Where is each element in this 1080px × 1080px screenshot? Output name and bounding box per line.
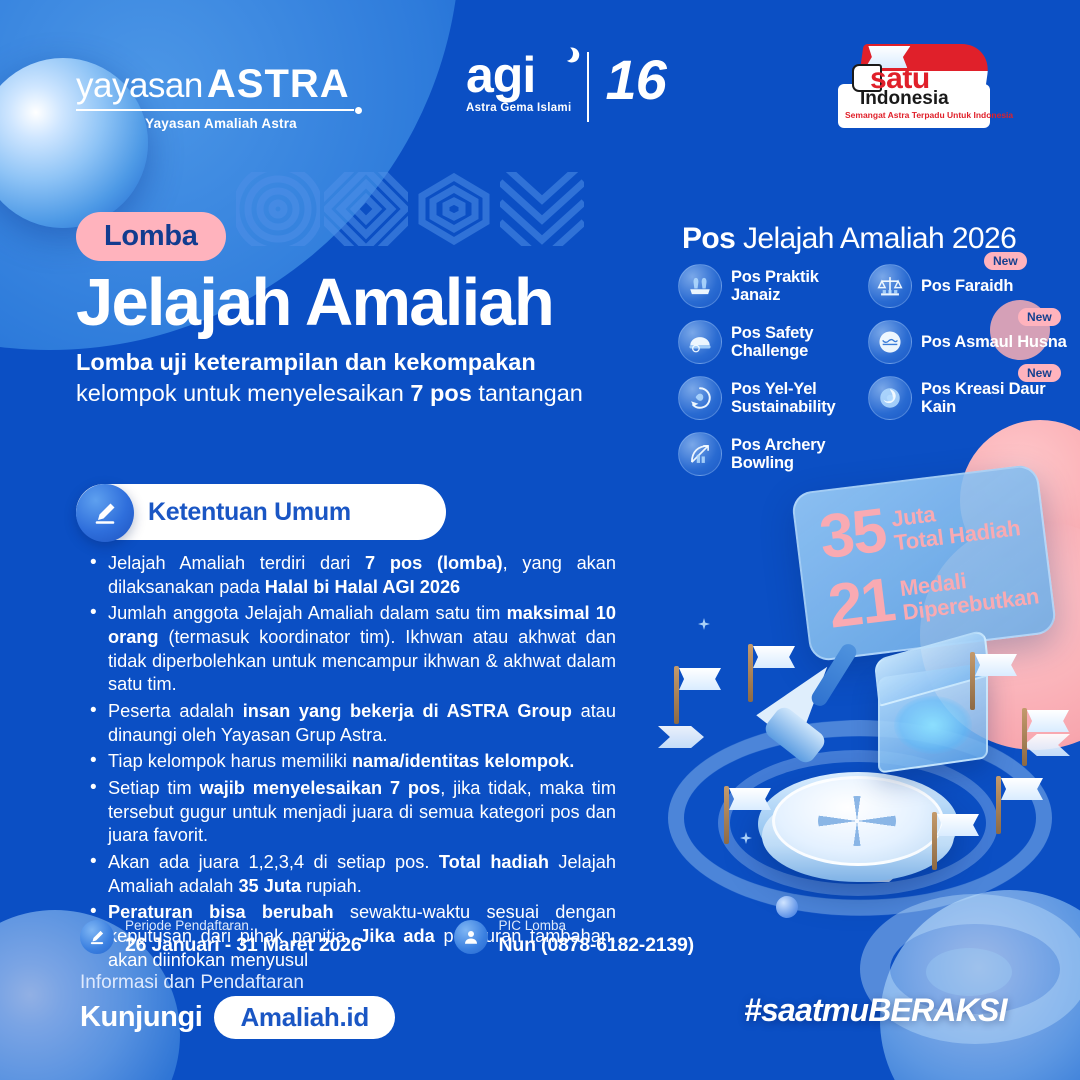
hero-subtitle-tail: tantangan — [472, 380, 583, 406]
arrow-band-left — [658, 726, 704, 748]
registration-period-item: Periode Pendaftaran 26 Januari - 31 Mare… — [80, 918, 362, 957]
hero-subtitle-bold-2: 7 pos — [410, 380, 471, 406]
pos-item: Pos FaraidhNew — [868, 264, 1078, 308]
pic-lomba-item: PIC Lomba Nun (0878-6182-2139) — [454, 918, 694, 957]
cta-lead-text: Informasi dan Pendaftaran — [80, 972, 395, 994]
ketentuan-title: Ketentuan Umum — [148, 498, 351, 527]
agi-edition-number: 16 — [605, 52, 665, 108]
astra-logo-rule — [76, 109, 354, 111]
pos-section-heading: Pos Jelajah Amaliah 2026 — [682, 222, 1016, 256]
rule-text: (termasuk koordinator tim). Ikhwan atau … — [108, 627, 616, 694]
agi-logo: agi Astra Gema Islami 16 — [466, 52, 666, 122]
info-row: Periode Pendaftaran 26 Januari - 31 Mare… — [80, 918, 694, 957]
janaiz-icon — [678, 264, 722, 308]
scales-icon — [868, 264, 912, 308]
astra-logo-subtitle: Yayasan Amaliah Astra — [76, 116, 366, 131]
registration-period-label: Periode Pendaftaran — [125, 918, 362, 934]
flag-4 — [1022, 708, 1027, 766]
rule-emphasis: 7 pos (lomba) — [365, 553, 503, 573]
rule-text: Setiap tim — [108, 778, 199, 798]
hero-subtitle-normal: kelompok untuk menyelesaikan — [76, 380, 410, 406]
satu-logo-word2: Indonesia — [860, 88, 949, 110]
flag-2 — [748, 644, 753, 702]
flag-1 — [674, 666, 679, 724]
3d-illustration — [640, 600, 1080, 1030]
pos-item-label: Pos Faraidh — [921, 277, 1013, 295]
rules-list: Jelajah Amaliah terdiri dari 7 pos (lomb… — [88, 552, 616, 975]
rule-item: Tiap kelompok harus memiliki nama/identi… — [88, 750, 616, 774]
new-badge: New — [984, 252, 1027, 270]
pos-item-label: Pos Archery Bowling — [731, 436, 868, 473]
new-badge: New — [1018, 364, 1061, 382]
pos-item: Pos Yel-Yel Sustainability — [678, 376, 868, 420]
pencil-icon — [76, 484, 134, 542]
pic-lomba-label: PIC Lomba — [499, 918, 694, 934]
registration-period-value: 26 Januari - 31 Maret 2026 — [125, 934, 362, 957]
prize-total-row: 35 Juta Total Hadiah — [817, 486, 1022, 566]
rule-emphasis: wajib menyelesaikan 7 pos — [199, 778, 440, 798]
pos-item-label: Pos Safety Challenge — [731, 324, 868, 361]
rule-item: Setiap tim wajib menyelesaikan 7 pos, ji… — [88, 777, 616, 848]
rule-item: Jumlah anggota Jelajah Amaliah dalam sat… — [88, 602, 616, 697]
hero-subtitle: Lomba uji keterampilan dan kekompakan ke… — [76, 347, 586, 409]
astra-logo-word2: ASTRA — [207, 62, 350, 107]
rule-text: Tiap kelompok harus memiliki — [108, 751, 352, 771]
flag-7 — [996, 776, 1001, 834]
calligraphy-icon — [868, 320, 912, 364]
rule-emphasis: Total hadiah — [439, 852, 549, 872]
astra-logo-word1: yayasan — [76, 66, 203, 106]
rule-item: Akan ada juara 1,2,3,4 di setiap pos. To… — [88, 851, 616, 898]
pos-heading-rest: Jelajah Amaliah 2026 — [735, 222, 1016, 255]
rule-item: Peserta adalah insan yang bekerja di AST… — [88, 700, 616, 747]
poster-header: yayasan ASTRA Yayasan Amaliah Astra agi … — [0, 0, 1080, 150]
hero-subtitle-bold-1: Lomba uji keterampilan dan kekompakan — [76, 349, 536, 375]
campaign-hashtag: #saatmuBERAKSI — [744, 992, 1007, 1029]
rule-emphasis: insan yang bekerja di ASTRA Group — [243, 701, 572, 721]
treasure-glow — [894, 696, 972, 754]
flag-3 — [970, 652, 975, 710]
rule-text: Peserta adalah — [108, 701, 243, 721]
pos-list: Pos Praktik JanaizPos FaraidhNewPos Safe… — [678, 264, 1078, 476]
fabric-swirl-icon — [868, 376, 912, 420]
website-link-button[interactable]: Amaliah.id — [214, 996, 394, 1039]
rule-text: Akan ada juara 1,2,3,4 di setiap pos. — [108, 852, 439, 872]
recycle-icon — [678, 376, 722, 420]
pic-lomba-value: Nun (0878-6182-2139) — [499, 934, 694, 957]
compass-star-icon — [818, 796, 896, 846]
pos-item-label: Pos Yel-Yel Sustainability — [731, 380, 868, 417]
pencil-icon — [80, 920, 114, 954]
rule-text: rupiah. — [301, 876, 362, 896]
pos-heading-bold: Pos — [682, 222, 735, 255]
rule-item: Jelajah Amaliah terdiri dari 7 pos (lomb… — [88, 552, 616, 599]
pos-item-label: Pos Praktik Janaiz — [731, 268, 868, 305]
pos-item: Pos Kreasi Daur KainNew — [868, 376, 1078, 420]
lomba-badge: Lomba — [76, 212, 226, 261]
cta-section: Informasi dan Pendaftaran Kunjungi Amali… — [80, 972, 395, 1039]
yayasan-astra-logo: yayasan ASTRA Yayasan Amaliah Astra — [76, 62, 366, 131]
pos-item: Pos Safety Challenge — [678, 320, 868, 364]
agi-logo-word: agi — [466, 52, 571, 100]
rule-emphasis: 35 Juta — [238, 876, 301, 896]
pos-item: Pos Asmaul HusnaNew — [868, 320, 1078, 364]
agi-divider — [587, 52, 589, 122]
flag-6 — [932, 812, 937, 870]
rule-text: Jelajah Amaliah terdiri dari — [108, 553, 365, 573]
satu-logo-tagline: Semangat Astra Terpadu Untuk Indonesia — [845, 110, 1013, 120]
new-badge: New — [1018, 308, 1061, 326]
arrow-band-right — [1024, 734, 1070, 756]
page-title: Jelajah Amaliah — [76, 269, 636, 337]
poster-root: yayasan ASTRA Yayasan Amaliah Astra agi … — [0, 0, 1080, 1080]
satu-indonesia-logo: satu Indonesia Semangat Astra Terpadu Un… — [838, 44, 990, 128]
hero-section: Lomba Jelajah Amaliah Lomba uji keteramp… — [76, 212, 636, 409]
rule-emphasis: Halal bi Halal AGI 2026 — [265, 577, 460, 597]
sparkle-2 — [698, 618, 710, 630]
cta-action-label: Kunjungi — [80, 1001, 202, 1034]
rule-text: Jumlah anggota Jelajah Amaliah dalam sat… — [108, 603, 507, 623]
pos-item: Pos Praktik Janaiz — [678, 264, 868, 308]
rule-emphasis: nama/identitas kelompok. — [352, 751, 574, 771]
pos-item-label: Pos Asmaul Husna — [921, 333, 1067, 351]
archery-icon — [678, 432, 722, 476]
agi-logo-subtitle: Astra Gema Islami — [466, 102, 571, 114]
flag-5 — [724, 786, 729, 844]
helmet-icon — [678, 320, 722, 364]
prize-amount-caption: Juta Total Hadiah — [890, 492, 1022, 555]
pos-item-label: Pos Kreasi Daur Kain — [921, 380, 1078, 417]
person-icon — [454, 920, 488, 954]
mini-ball — [776, 896, 798, 918]
pos-item: Pos Archery Bowling — [678, 432, 868, 476]
prize-amount-number: 35 — [817, 503, 888, 566]
